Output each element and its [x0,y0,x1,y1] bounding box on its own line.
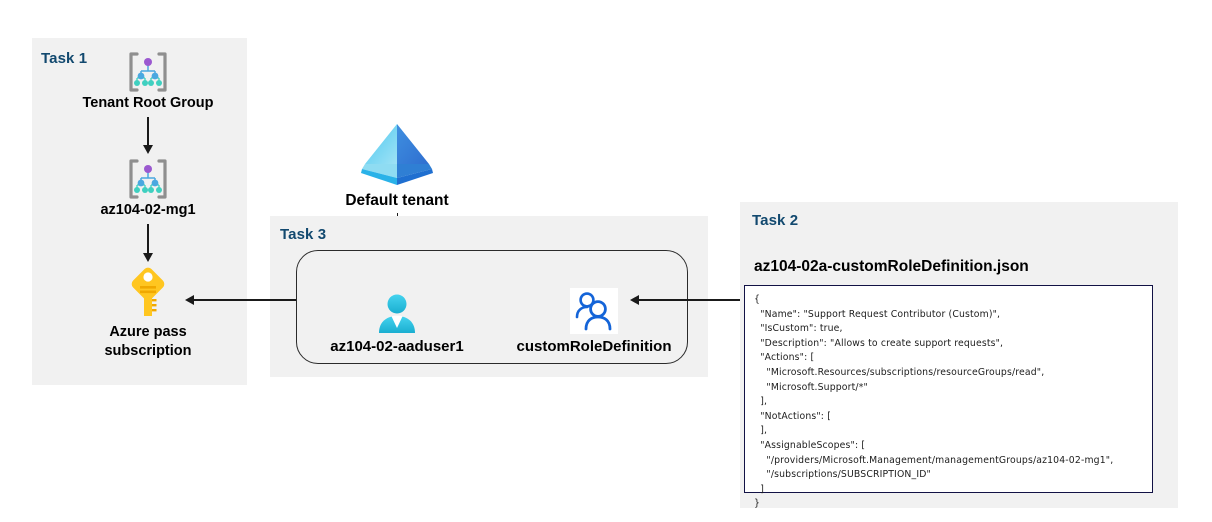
management-group-icon [124,48,172,96]
aaduser1-label: az104-02-aaduser1 [297,337,497,356]
key-icon [124,264,172,322]
task2-label: Task 2 [752,212,798,229]
arrow-rootgroup-to-mg1-line [147,117,149,147]
json-code-box: { "Name": "Support Request Contributor (… [744,285,1153,493]
customroledefinition-label: customRoleDefinition [494,337,694,356]
arrow-mg1-to-subscription-line [147,224,149,255]
arrow-json-to-customrole-line [637,299,743,301]
json-code-text: { "Name": "Support Request Contributor (… [754,293,1143,512]
default-tenant-label: Default tenant [297,191,497,211]
subscription-label-line1: Azure pass [109,324,186,340]
arrow-json-to-customrole-head [630,295,639,305]
custom-role-users-icon [570,288,618,334]
subscription-label-line2: subscription [104,343,191,359]
management-group-icon [124,155,172,203]
arrow-rootgroup-to-mg1-head [143,145,153,154]
azure-tenant-pyramid-icon [357,122,437,188]
task3-label: Task 3 [280,226,326,243]
mg1-label: az104-02-mg1 [40,201,256,220]
tenant-root-group-label: Tenant Root Group [40,94,256,113]
arrow-mg1-to-subscription-head [143,253,153,262]
task2-filename-label: az104-02a-customRoleDefinition.json [754,258,1029,276]
subscription-label: Azure pass subscription [40,323,256,360]
arrow-task3-to-subscription-head [185,295,194,305]
user-icon [375,293,419,335]
task1-label: Task 1 [41,50,87,67]
arrow-task3-to-subscription-line [192,299,296,301]
